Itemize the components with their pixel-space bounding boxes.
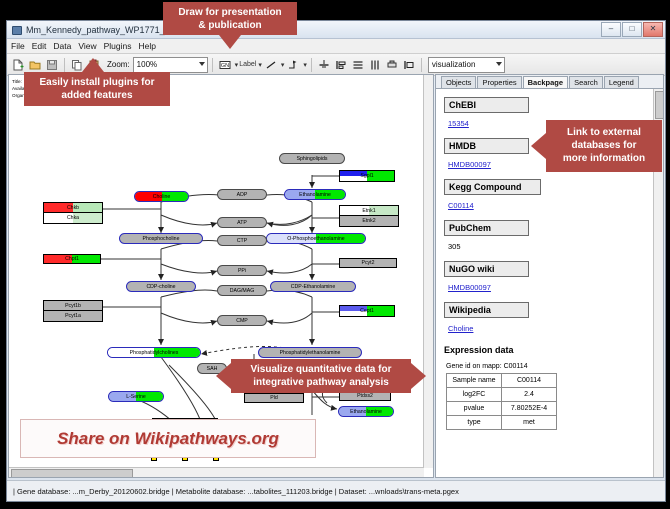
zoom-combo[interactable]: 100% bbox=[133, 57, 208, 73]
node-label: Ptdss2 bbox=[357, 393, 373, 399]
metabolite-cdp-ethanolamine[interactable]: CDP-Ethanolamine bbox=[270, 281, 356, 292]
align-center-icon[interactable] bbox=[316, 57, 332, 73]
table-row: pvalue 7.80252E-4 bbox=[447, 402, 557, 416]
table-cell-key: pvalue bbox=[447, 402, 502, 416]
node-label: DAG/MAG bbox=[230, 288, 255, 294]
node-label: O-Phosphoethanolamine bbox=[287, 236, 344, 242]
node-label: Phosphatidylcholines bbox=[130, 350, 179, 356]
gene-pcyt1b[interactable]: Pcyt1b bbox=[44, 301, 102, 311]
svg-text:GN: GN bbox=[221, 63, 229, 69]
node-label: Pcyt2 bbox=[362, 260, 375, 266]
node-label: Pld bbox=[270, 395, 278, 401]
db-header-kegg: Kegg Compound bbox=[444, 179, 541, 195]
menu-data[interactable]: Data bbox=[53, 41, 71, 51]
metabolite-cmp[interactable]: CMP bbox=[217, 315, 267, 326]
menu-edit[interactable]: Edit bbox=[32, 41, 47, 51]
metabolite-ppi[interactable]: PPi bbox=[217, 265, 267, 276]
new-icon[interactable] bbox=[10, 57, 26, 73]
gene-group-pcyt1: Pcyt1b Pcyt1a bbox=[43, 300, 103, 322]
toolbar-separator-1 bbox=[64, 58, 65, 72]
minimize-button[interactable]: – bbox=[601, 22, 621, 37]
expression-data-heading: Expression data bbox=[444, 345, 663, 355]
arrow-icon[interactable] bbox=[285, 57, 301, 73]
gene-chkb[interactable]: Chkb bbox=[44, 203, 102, 213]
node-label: Etnk2 bbox=[362, 218, 375, 224]
node-label: Pcyt1b bbox=[65, 303, 81, 309]
node-label: ATP bbox=[237, 220, 247, 226]
db-link-kegg[interactable]: C00114 bbox=[448, 201, 474, 210]
side-panel-tabs: Objects Properties Backpage Search Legen… bbox=[436, 75, 663, 89]
order-icon[interactable] bbox=[401, 57, 417, 73]
callout-plugins: Easily install plugins for added feature… bbox=[24, 72, 170, 106]
metabolite-l-serine-left[interactable]: L-Serine bbox=[108, 391, 164, 402]
node-label: Sphingolipids bbox=[297, 156, 328, 162]
align-left-icon[interactable] bbox=[333, 57, 349, 73]
gene-etnk1[interactable]: Etnk1 bbox=[340, 206, 398, 216]
node-label: ADP bbox=[237, 192, 248, 198]
metabolite-dagmag[interactable]: DAG/MAG bbox=[217, 285, 267, 296]
pathway-canvas[interactable]: Title:AvailaOrgani bbox=[8, 74, 434, 478]
toolbar-separator-3 bbox=[311, 58, 312, 72]
node-label: Choline bbox=[153, 194, 171, 200]
db-header-hmdb: HMDB bbox=[444, 138, 529, 154]
metabolite-cdp-choline[interactable]: CDP-choline bbox=[126, 281, 196, 292]
metabolite-sphingolipids[interactable]: Sphingolipids bbox=[279, 153, 345, 164]
maximize-button[interactable]: □ bbox=[622, 22, 642, 37]
table-cell-value: 7.80252E-4 bbox=[502, 402, 557, 416]
callout-visualize-arrow-right-icon bbox=[411, 363, 426, 389]
tab-objects[interactable]: Objects bbox=[441, 76, 476, 88]
label-tool-label[interactable]: Label bbox=[239, 61, 256, 68]
canvas-vertical-scrollbar[interactable] bbox=[423, 75, 433, 468]
gene-chpt1[interactable]: Chpt1 bbox=[43, 254, 101, 264]
pathway-connectors bbox=[9, 75, 433, 478]
table-cell-value: C00114 bbox=[502, 374, 557, 388]
datanode-dropdown-icon[interactable]: ▾ bbox=[235, 61, 239, 69]
share-text: Share on Wikipathways.org bbox=[57, 429, 279, 449]
window-controls: – □ ✕ bbox=[601, 22, 665, 37]
app-icon bbox=[11, 24, 22, 35]
visualization-combo[interactable]: visualization bbox=[428, 57, 505, 73]
menu-bar: File Edit Data View Plugins Help bbox=[7, 39, 665, 54]
line-icon[interactable] bbox=[263, 57, 279, 73]
tab-backpage[interactable]: Backpage bbox=[523, 76, 568, 88]
status-bar: | Gene database: ...m_Derby_20120602.bri… bbox=[7, 480, 665, 501]
expression-table: Sample name C00114 log2FC 2.4 pvalue 7.8… bbox=[446, 373, 557, 430]
metabolite-phosphocholine[interactable]: Phosphocholine bbox=[119, 233, 203, 244]
table-row: log2FC 2.4 bbox=[447, 388, 557, 402]
node-label: Etnk1 bbox=[362, 208, 375, 214]
node-label: L-Serine bbox=[126, 394, 146, 400]
metabolite-ctp[interactable]: CTP bbox=[217, 235, 267, 246]
gene-pcyt1a[interactable]: Pcyt1a bbox=[44, 311, 102, 321]
metabolite-phosphatidylcholines[interactable]: Phosphatidylcholines bbox=[107, 347, 201, 358]
table-row: Sample name C00114 bbox=[447, 374, 557, 388]
gene-pcyt2[interactable]: Pcyt2 bbox=[339, 258, 397, 268]
db-link-wikipedia[interactable]: Choline bbox=[448, 324, 473, 333]
pathway-graph: Choline Phosphocholine CDP-choline Phosp… bbox=[9, 75, 433, 478]
close-button[interactable]: ✕ bbox=[643, 22, 663, 37]
metabolite-o-phosphoethanolamine[interactable]: O-Phosphoethanolamine bbox=[266, 233, 366, 244]
distribute-horizontal-icon[interactable] bbox=[367, 57, 383, 73]
db-link-nugo[interactable]: HMDB00097 bbox=[448, 283, 491, 292]
tab-legend[interactable]: Legend bbox=[604, 76, 639, 88]
status-text: | Gene database: ...m_Derby_20120602.bri… bbox=[7, 487, 459, 496]
node-label: Phosphatidylethanolamine bbox=[280, 350, 341, 356]
gene-group-chk: Chkb Chka bbox=[43, 202, 103, 224]
db-header-wikipedia: Wikipedia bbox=[444, 302, 529, 318]
menu-plugins[interactable]: Plugins bbox=[104, 41, 132, 51]
node-label: Phosphocholine bbox=[143, 236, 180, 242]
callout-links-arrow-icon bbox=[531, 133, 546, 159]
table-cell-value: 2.4 bbox=[502, 388, 557, 402]
db-header-chebi: ChEBI bbox=[444, 97, 529, 113]
tab-search[interactable]: Search bbox=[569, 76, 603, 88]
visualization-value: visualization bbox=[432, 60, 476, 69]
node-label: Ethanolamine bbox=[299, 192, 331, 198]
canvas-horizontal-scrollbar[interactable] bbox=[9, 467, 424, 477]
metabolite-ethanolamine-top[interactable]: Ethanolamine bbox=[284, 189, 346, 200]
gene-id-line: Gene id on mapp: C00114 bbox=[446, 363, 663, 370]
gene-group-etnk: Etnk1 Etnk2 bbox=[339, 205, 399, 227]
db-link-hmdb[interactable]: HMDB00097 bbox=[448, 160, 491, 169]
metabolite-phosphatidylethanolamine[interactable]: Phosphatidylethanolamine bbox=[258, 347, 362, 358]
arrow-dropdown-icon[interactable]: ▾ bbox=[303, 61, 307, 69]
menu-file[interactable]: File bbox=[11, 41, 25, 51]
screenshot-root: Mm_Kennedy_pathway_WP1771_45176.gpml – □… bbox=[0, 0, 670, 509]
toolbar-separator-2 bbox=[212, 58, 213, 72]
title-bar: Mm_Kennedy_pathway_WP1771_45176.gpml – □… bbox=[7, 21, 665, 39]
callout-visualize: Visualize quantitative data for integrat… bbox=[231, 359, 411, 393]
callout-links: Link to external databases for more info… bbox=[546, 120, 662, 172]
datanode-icon[interactable]: GN bbox=[217, 57, 233, 73]
scrollbar-thumb[interactable] bbox=[11, 469, 133, 478]
distribute-vertical-icon[interactable] bbox=[350, 57, 366, 73]
gene-chka[interactable]: Chka bbox=[44, 213, 102, 223]
table-cell-value: met bbox=[502, 416, 557, 430]
node-label: PPi bbox=[238, 268, 246, 274]
metabolite-choline-top[interactable]: Choline bbox=[134, 191, 189, 202]
node-label: Chpt1 bbox=[65, 256, 79, 262]
scrollbar-thumb[interactable] bbox=[655, 91, 664, 119]
menu-view[interactable]: View bbox=[78, 41, 96, 51]
zoom-value: 100% bbox=[137, 60, 157, 69]
chevron-down-icon bbox=[199, 62, 205, 66]
node-label: Sgpl1 bbox=[360, 173, 373, 179]
line-dropdown-icon[interactable]: ▾ bbox=[281, 61, 285, 69]
open-icon[interactable] bbox=[27, 57, 43, 73]
node-label: Cept1 bbox=[360, 308, 374, 314]
label-dropdown-icon[interactable]: ▾ bbox=[258, 61, 262, 69]
gene-sgpl1[interactable]: Sgpl1 bbox=[339, 170, 395, 182]
callout-share: Share on Wikipathways.org bbox=[20, 419, 316, 458]
zoom-label: Zoom: bbox=[107, 60, 130, 69]
table-cell-key: type bbox=[447, 416, 502, 430]
tab-properties[interactable]: Properties bbox=[477, 76, 521, 88]
metabolite-adp[interactable]: ADP bbox=[217, 189, 267, 200]
db-header-nugo: NuGO wiki bbox=[444, 261, 529, 277]
callout-plugins-arrow-icon bbox=[82, 58, 104, 72]
table-cell-key: Sample name bbox=[447, 374, 502, 388]
gene-etnk2[interactable]: Etnk2 bbox=[340, 216, 398, 226]
table-cell-key: log2FC bbox=[447, 388, 502, 402]
node-label: Ethanolamine bbox=[350, 409, 382, 415]
node-label: Chka bbox=[67, 215, 79, 221]
menu-help[interactable]: Help bbox=[139, 41, 156, 51]
callout-draw-arrow-icon bbox=[219, 35, 241, 49]
metabolite-ethanolamine-bottom[interactable]: Ethanolamine bbox=[338, 406, 394, 417]
toolbar-separator-4 bbox=[421, 58, 422, 72]
table-row: type met bbox=[447, 416, 557, 430]
node-label: Pcyt1a bbox=[65, 313, 81, 319]
db-link-chebi[interactable]: 15354 bbox=[448, 119, 469, 128]
node-label: CMP bbox=[236, 318, 248, 324]
chevron-down-icon bbox=[496, 62, 502, 66]
callout-visualize-arrow-left-icon bbox=[216, 363, 231, 389]
node-label: CDP-Ethanolamine bbox=[291, 284, 335, 290]
db-header-pubchem: PubChem bbox=[444, 220, 529, 236]
db-value-pubchem: 305 bbox=[448, 242, 461, 251]
callout-draw: Draw for presentation & publication bbox=[163, 2, 297, 35]
gene-pld[interactable]: Pld bbox=[244, 393, 304, 403]
node-label: CTP bbox=[237, 238, 247, 244]
node-label: Chkb bbox=[67, 205, 79, 211]
gene-cept1[interactable]: Cept1 bbox=[339, 305, 395, 317]
node-label: CDP-choline bbox=[146, 284, 175, 290]
metabolite-atp[interactable]: ATP bbox=[217, 217, 267, 228]
group-icon[interactable] bbox=[384, 57, 400, 73]
save-icon[interactable] bbox=[44, 57, 60, 73]
